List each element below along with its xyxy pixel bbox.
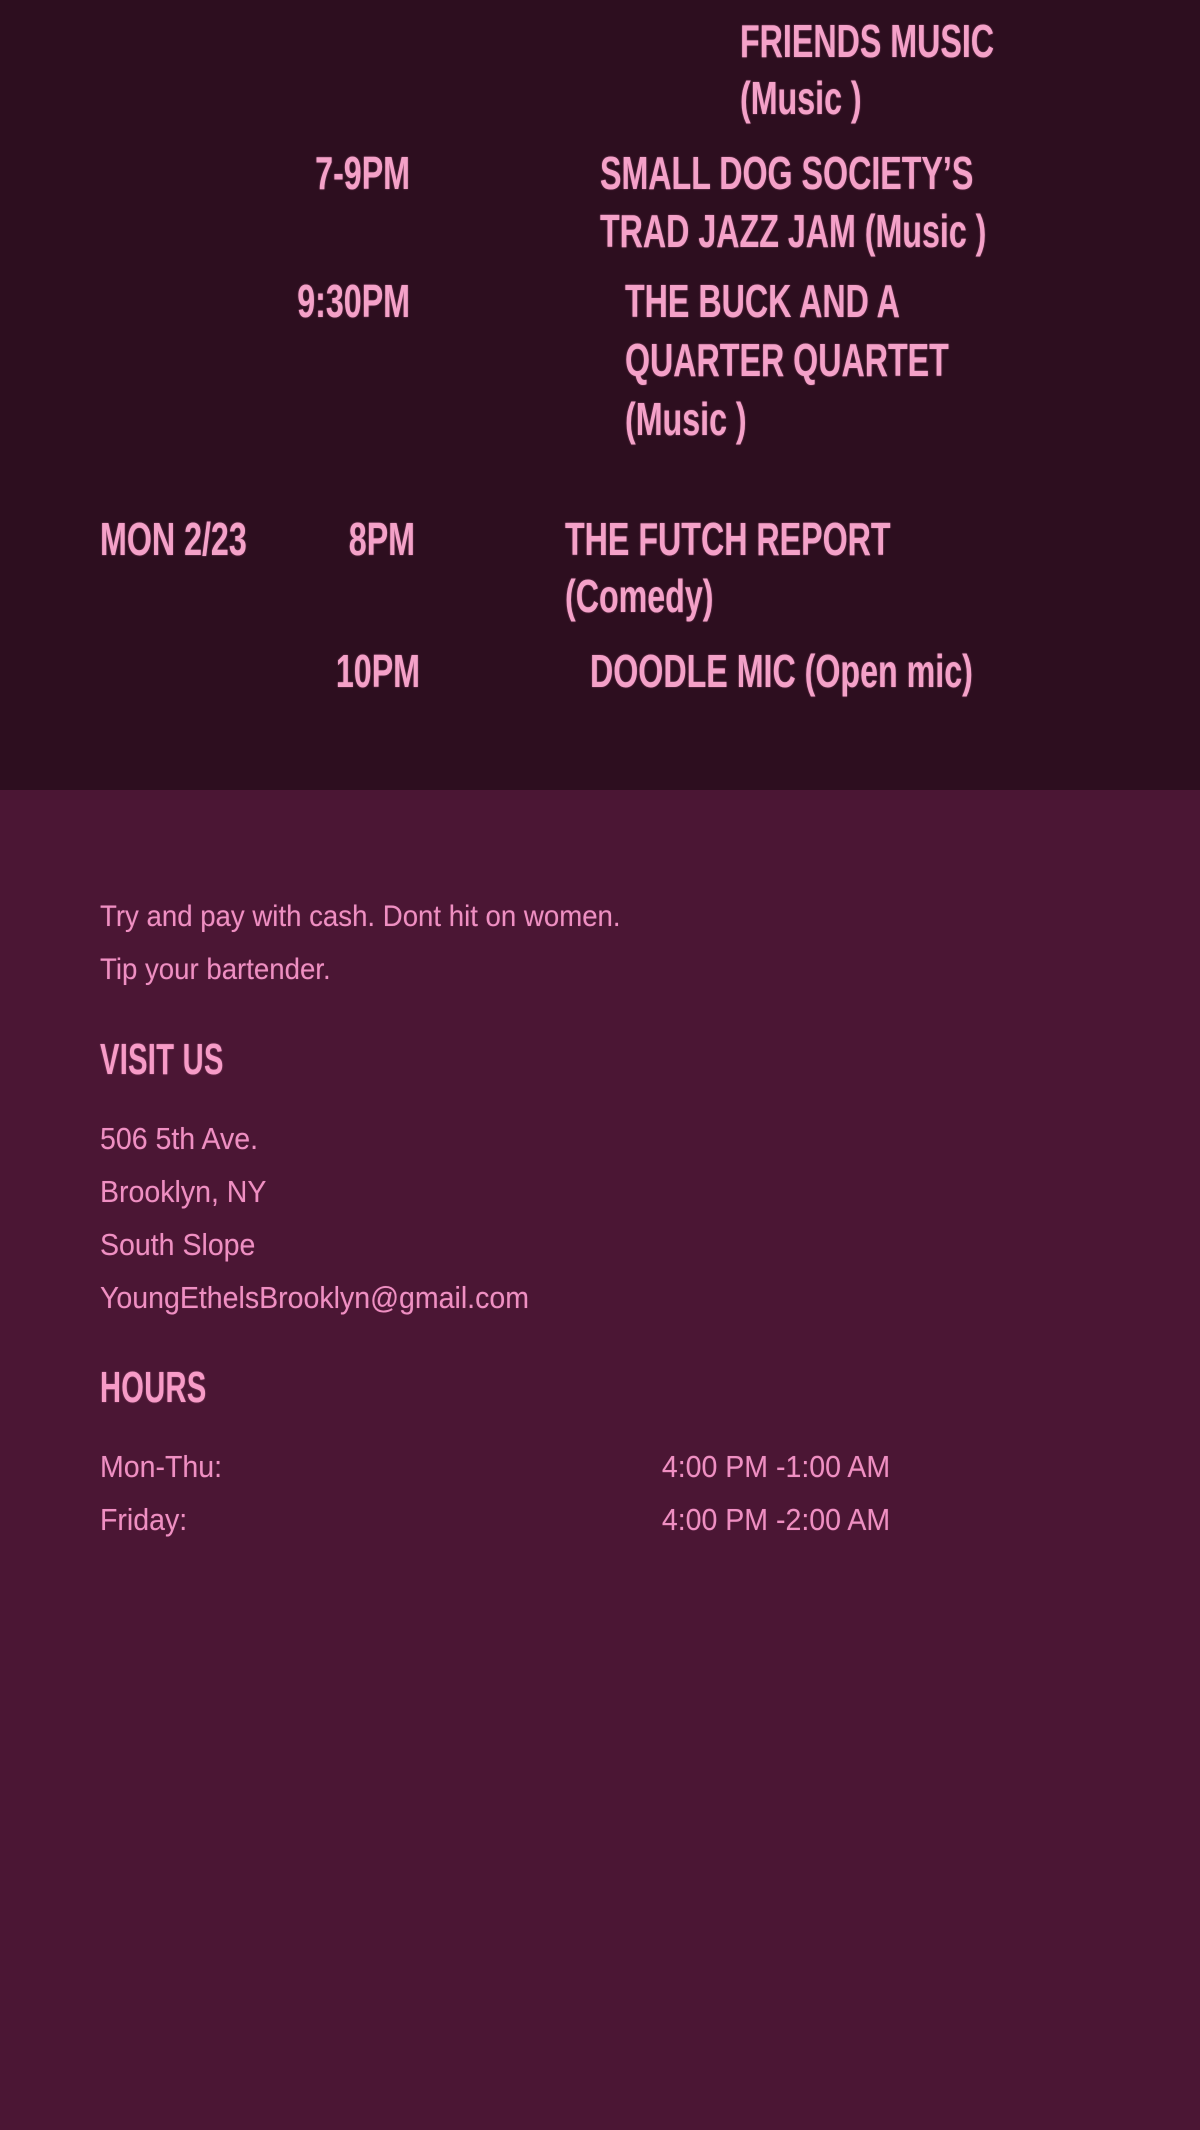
- address-city-state: Brooklyn, NY: [100, 1165, 1020, 1218]
- hours-range-friday: 4:00 PM -2:00 AM: [530, 1493, 890, 1546]
- schedule-genre-clipped: (Music ): [740, 75, 862, 121]
- schedule-title-futch-report: THE FUTCH REPORT: [565, 516, 891, 562]
- hours-day-label-friday: Friday:: [100, 1493, 530, 1546]
- schedule-title-clipped-line1: FRIENDS MUSIC: [740, 18, 994, 64]
- hours-row-mon-thu: Mon-Thu: 4:00 PM -1:00 AM: [100, 1440, 890, 1493]
- spacer-after-hours-heading: [100, 1412, 1100, 1440]
- event-schedule-list: FRIENDS MUSIC (Music ) 7-9pm SMALL DOG S…: [0, 0, 1200, 790]
- contact-email-link[interactable]: YoungEthelsBrooklyn@gmail.com: [100, 1271, 1020, 1324]
- visit-us-heading: VISIT US: [100, 1036, 760, 1084]
- schedule-time-buck-and-a-quarter-quartet: 9:30pm: [263, 278, 410, 324]
- address-neighborhood: South Slope: [100, 1218, 1020, 1271]
- spacer-after-visit-heading: [100, 1084, 1100, 1112]
- schedule-title-small-dog-society-line2: TRAD JAZZ JAM (Music ): [600, 208, 986, 254]
- schedule-title-small-dog-society-line1: SMALL DOG SOCIETY’S: [600, 150, 973, 196]
- hours-range-mon-thu: 4:00 PM -1:00 AM: [530, 1440, 890, 1493]
- address-street: 506 5th Ave.: [100, 1112, 1020, 1165]
- schedule-genre-futch-report: (Comedy): [565, 573, 713, 619]
- schedule-title-buck-quartet-line1: THE BUCK AND A: [625, 278, 900, 324]
- hours-heading: HOURS: [100, 1364, 760, 1412]
- schedule-genre-buck-quartet: (Music ): [625, 396, 747, 442]
- schedule-time-doodle-mic: 10pm: [273, 648, 420, 694]
- hours-row-friday: Friday: 4:00 PM -2:00 AM: [100, 1493, 890, 1546]
- notice-line-tip-bartender: Tip your bartender.: [100, 943, 1020, 996]
- schedule-date-monday-2-23: MON 2/23: [100, 516, 247, 562]
- schedule-time-futch-report: 8pm: [275, 516, 415, 562]
- schedule-title-doodle-mic: DOODLE MIC (Open mic): [590, 648, 973, 694]
- notice-line-cash-women: Try and pay with cash. Dont hit on women…: [100, 890, 1020, 943]
- spacer-after-notices: [100, 996, 1100, 1036]
- hours-day-label-mon-thu: Mon-Thu:: [100, 1440, 530, 1493]
- spacer-after-address: [100, 1324, 1100, 1364]
- schedule-time-small-dog-society: 7-9pm: [263, 150, 410, 196]
- schedule-title-buck-quartet-line2: QUARTER QUARTET: [625, 337, 949, 383]
- venue-info-footer: Try and pay with cash. Dont hit on women…: [100, 890, 1100, 1546]
- hours-table: Mon-Thu: 4:00 PM -1:00 AM Friday: 4:00 P…: [100, 1440, 890, 1546]
